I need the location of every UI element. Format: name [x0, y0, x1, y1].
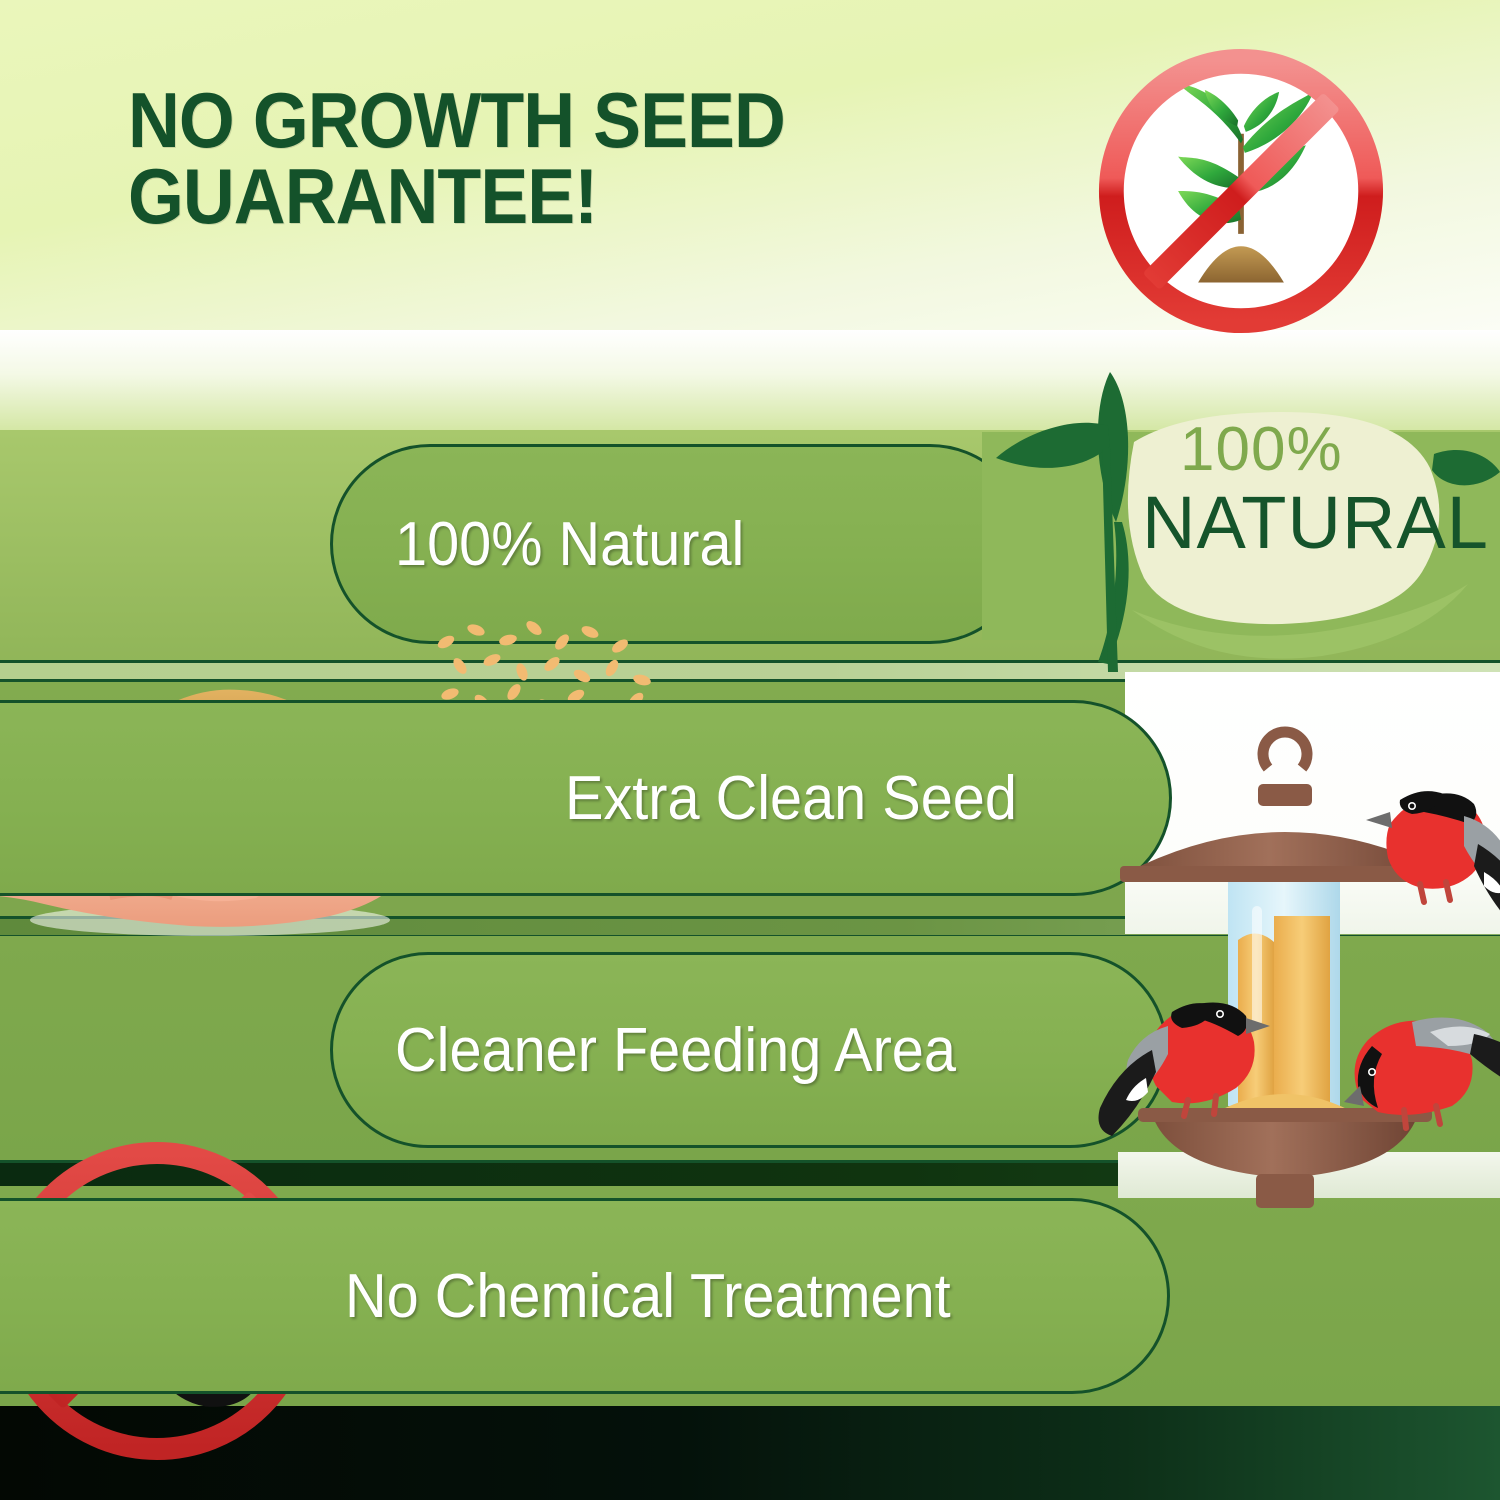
benefit-label-feeding-area: Cleaner Feeding Area [395, 1015, 956, 1086]
no-plant-growth-icon [1098, 48, 1384, 334]
benefit-label-clean-seed: Extra Clean Seed [565, 763, 1017, 834]
benefit-pill-clean-seed[interactable]: Extra Clean Seed [0, 700, 1172, 896]
page-title-line-1: NO GROWTH SEED [128, 82, 956, 158]
natural-badge-percent: 100% [1180, 414, 1343, 485]
page-title-line-2: GUARANTEE! [128, 158, 956, 234]
benefit-pill-natural[interactable]: 100% Natural [330, 444, 1030, 644]
benefit-pill-no-chemical[interactable]: No Chemical Treatment [0, 1198, 1170, 1394]
infographic-poster: NO GROWTH SEED GUARANTEE! [0, 0, 1500, 1500]
benefit-pill-feeding-area[interactable]: Cleaner Feeding Area [330, 952, 1168, 1148]
benefit-label-natural: 100% Natural [395, 509, 744, 580]
bird-feeder-with-bullfinches [1060, 716, 1500, 1226]
natural-badge: 100% NATURAL [982, 372, 1500, 672]
natural-badge-word: NATURAL [1142, 480, 1489, 565]
page-title: NO GROWTH SEED GUARANTEE! [128, 82, 956, 235]
benefit-label-no-chemical: No Chemical Treatment [345, 1261, 951, 1332]
